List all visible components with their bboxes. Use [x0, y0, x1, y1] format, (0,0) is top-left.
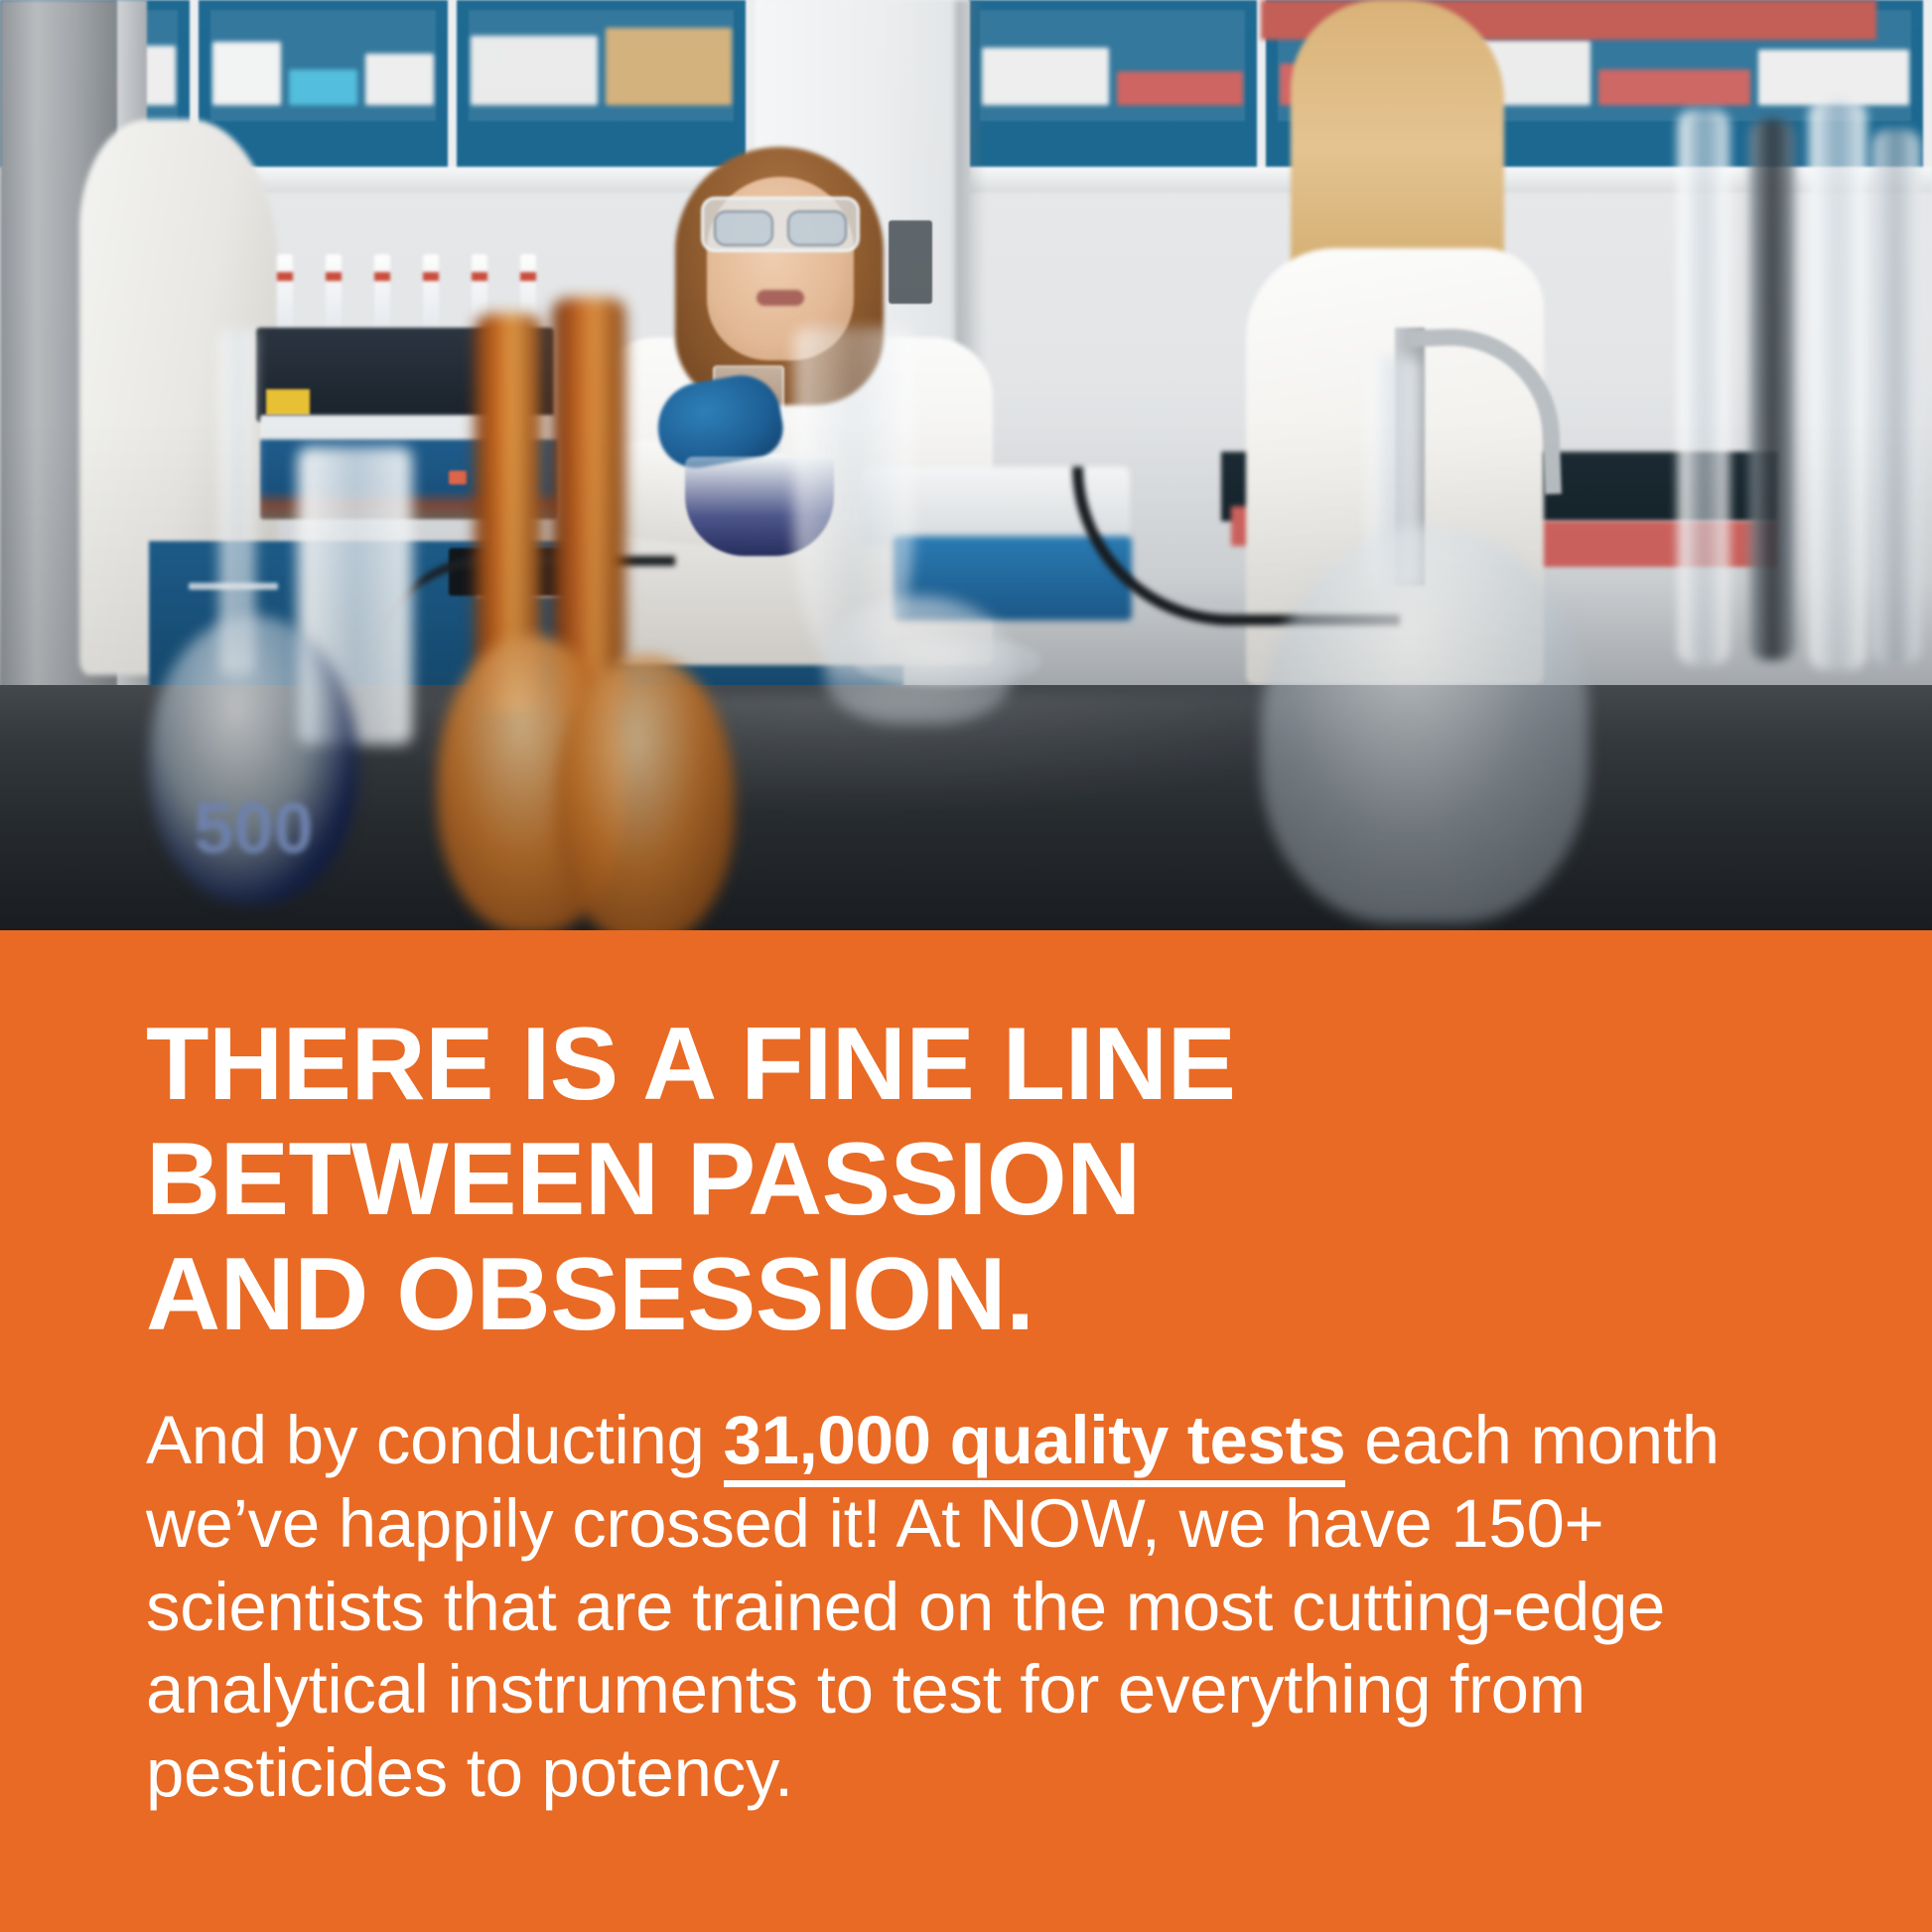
right-erlenmeyer-flask [1261, 526, 1588, 923]
flask-volume-label: 500 [187, 784, 321, 874]
body-copy-part-1: And by conducting [146, 1402, 724, 1478]
headline-line-3: AND OBSESSION. [146, 1238, 1536, 1353]
center-scientist-mouth [757, 290, 804, 306]
safety-goggles [701, 197, 860, 252]
gas-cylinder [1678, 109, 1729, 665]
cabinet [968, 0, 1266, 169]
amber-flask-bulb [556, 655, 735, 930]
gas-cylinder [1872, 129, 1920, 665]
headline-line-1: THERE IS A FINE LINE [146, 1008, 1536, 1123]
orange-text-panel: THERE IS A FINE LINE BETWEEN PASSION AND… [0, 930, 1932, 1932]
gas-cylinder [1749, 119, 1795, 660]
cabinet-contents [212, 6, 434, 105]
rack-label [266, 389, 310, 415]
promo-poster: 500 THERE IS A FINE LINE BETWEEN PASSION… [0, 0, 1932, 1932]
lab-photo: 500 [0, 0, 1932, 930]
headline: THERE IS A FINE LINE BETWEEN PASSION AND… [146, 1008, 1536, 1353]
headline-line-2: BETWEEN PASSION [146, 1123, 1536, 1238]
quality-tests-emphasis: 31,000 quality tests [724, 1402, 1346, 1487]
instrument-led [449, 471, 467, 484]
cabinet-contents [471, 6, 732, 105]
cabinet [457, 0, 755, 169]
foreground-flask-bulb [824, 596, 1013, 725]
cabinet-contents [982, 6, 1243, 105]
wall-monitor [889, 220, 932, 304]
gas-cylinder [1809, 99, 1866, 670]
body-copy: And by conducting 31,000 quality tests e… [146, 1399, 1783, 1815]
red-tray [1529, 521, 1777, 567]
